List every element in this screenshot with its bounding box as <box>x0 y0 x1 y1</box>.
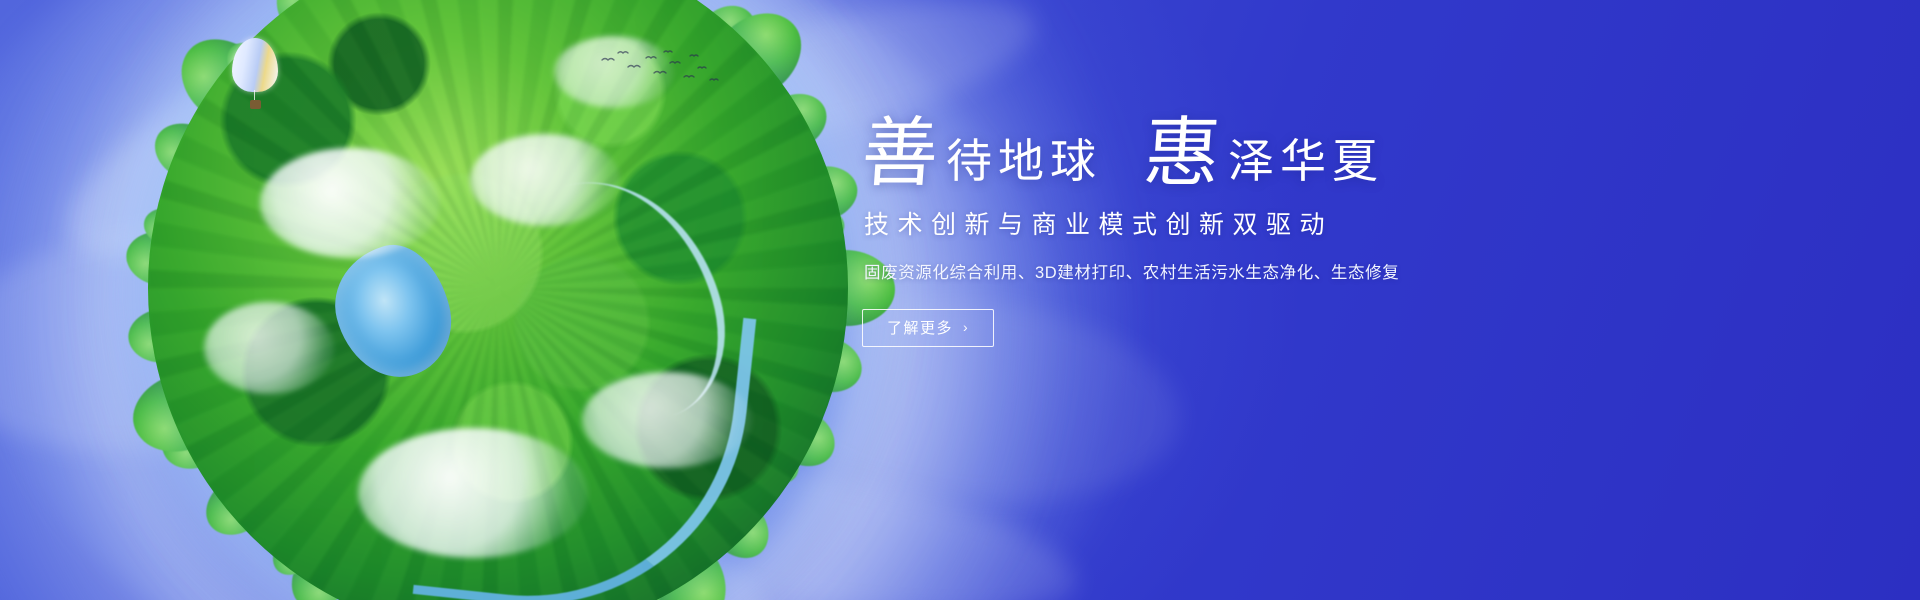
hero-banner: 善 待地球 惠 泽华夏 技术创新与商业模式创新双驱动 固废资源化综合利用、3D建… <box>0 0 1920 600</box>
hero-text-block: 善 待地球 惠 泽华夏 技术创新与商业模式创新双驱动 固废资源化综合利用、3D建… <box>862 118 1482 347</box>
globe-cloud-puff <box>470 134 620 226</box>
learn-more-button[interactable]: 了解更多 › <box>862 309 994 347</box>
globe-cloud-puff <box>204 302 334 394</box>
balloon-basket <box>250 100 261 109</box>
hero-subtitle: 技术创新与商业模式创新双驱动 <box>864 205 1482 241</box>
globe-cloud-puff <box>582 372 752 468</box>
balloon-envelope <box>232 38 278 92</box>
page-title: 善 待地球 惠 泽华夏 <box>862 118 1482 191</box>
globe-cloud-puff <box>358 428 588 558</box>
hero-description: 固废资源化综合利用、3D建材打印、农村生活污水生态净化、生态修复 <box>864 259 1482 283</box>
bird-flock-icon <box>598 50 728 90</box>
chevron-right-icon: › <box>963 319 969 335</box>
headline-text-daidiqiu: 待地球 <box>940 139 1102 191</box>
globe-cloud-puff <box>260 148 440 258</box>
headline-text-zehuaxia: 泽华夏 <box>1222 139 1384 191</box>
learn-more-label: 了解更多 <box>887 317 953 338</box>
hot-air-balloon-icon <box>232 38 278 116</box>
headline-char-hui: 惠 <box>1141 118 1224 191</box>
headline-char-shan: 善 <box>859 118 942 191</box>
